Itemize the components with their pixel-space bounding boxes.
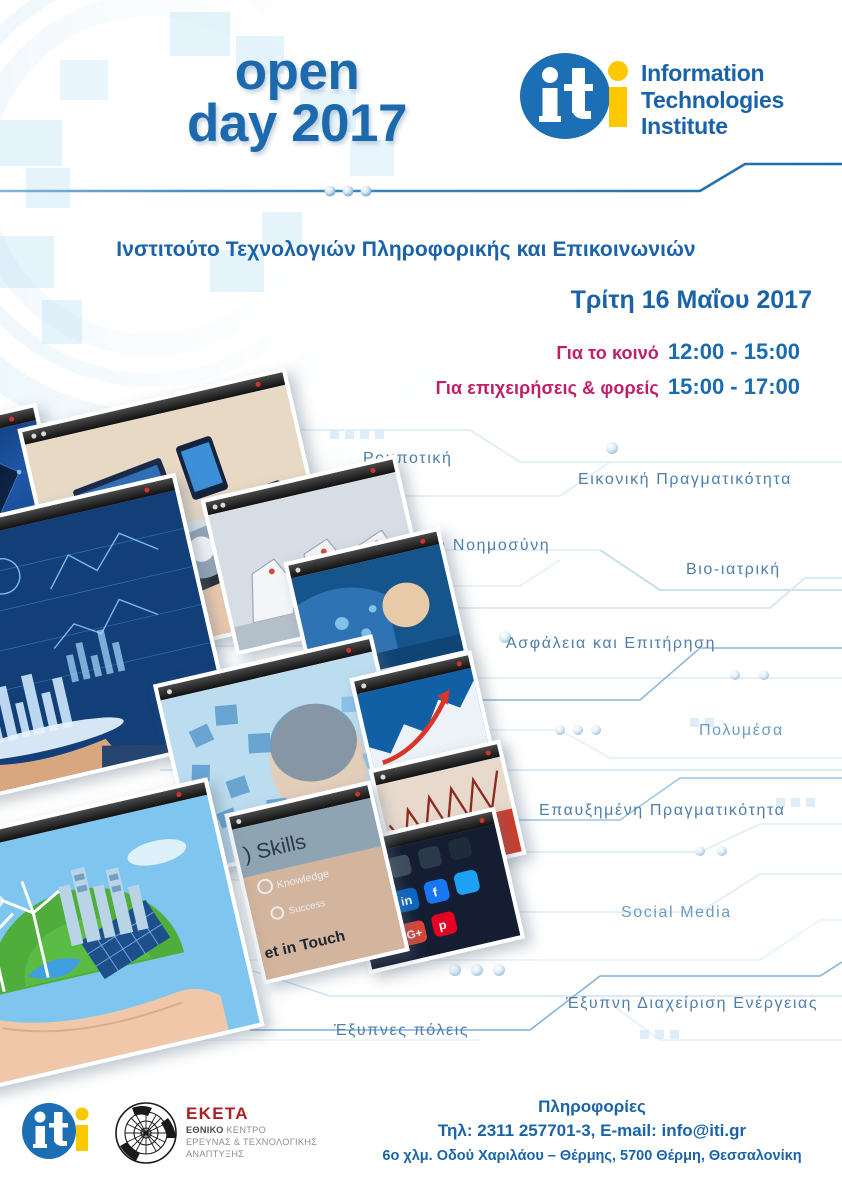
iti-wordmark: Information Technologies Institute — [641, 60, 784, 140]
image-collage: in f G+ p ) Skills Knowledge — [0, 395, 550, 1075]
title-line-1: open — [235, 42, 360, 101]
topic-label-biomedical: Βιο-ιατρική — [686, 561, 781, 579]
iti-logo-footer — [22, 1102, 94, 1160]
topic-label-virtual-reality: Εικονική Πραγματικότητα — [578, 471, 792, 489]
session-label-public: Για το κοινό — [556, 343, 658, 363]
iti-word-line-1: Information — [641, 60, 784, 87]
iti-word-line-3: Institute — [641, 113, 784, 140]
footer-contact-line: Τηλ: 2311 257701-3, E-mail: info@iti.gr — [342, 1119, 842, 1144]
topic-label-smart-energy: Έξυπνη Διαχείριση Ενέργειας — [566, 995, 818, 1013]
topic-label-multimedia: Πολυμέσα — [699, 722, 784, 740]
session-time-business: 15:00 - 17:00 — [668, 374, 800, 399]
session-row-public: Για το κοινό12:00 - 15:00 — [0, 338, 800, 366]
page-title: open day 2017 — [132, 46, 462, 150]
iti-logo — [517, 52, 642, 140]
institute-name: Ινστιτούτο Τεχνολογιών Πληροφορικής και … — [0, 238, 812, 262]
certh-subtitle-line-2: ΕΡΕΥΝΑΣ & ΤΕΧΝΟΛΟΓΙΚΗΣ — [186, 1136, 317, 1148]
iti-word-line-2: Technologies — [641, 87, 784, 114]
title-line-2: day 2017 — [132, 98, 462, 150]
certh-subtitle-line-1: ΕΘΝΙΚΟ ΚΕΝΤΡΟ — [186, 1124, 317, 1136]
topic-label-social-media: Social Media — [621, 904, 732, 922]
topic-label-augmented-reality: Επαυξημένη Πραγματικότητα — [539, 802, 786, 820]
footer-address-line: 6ο χλμ. Οδού Χαριλάου – Θέρμης, 5700 Θέρ… — [342, 1144, 842, 1169]
certh-subtitle-bold: ΕΘΝΙΚΟ — [186, 1125, 224, 1135]
header-divider — [0, 160, 842, 220]
session-time-public: 12:00 - 15:00 — [668, 339, 800, 364]
certh-subtitle-rest: ΚΕΝΤΡΟ — [224, 1125, 266, 1135]
certh-acronym: ΕΚΕΤΑ — [186, 1104, 317, 1124]
footer-info-title: Πληροφορίες — [342, 1096, 842, 1119]
certh-wordmark: ΕΚΕΤΑ ΕΘΝΙΚΟ ΚΕΝΤΡΟ ΕΡΕΥΝΑΣ & ΤΕΧΝΟΛΟΓΙΚ… — [186, 1104, 317, 1160]
certh-subtitle-line-3: ΑΝΑΠΤΥΞΗΣ — [186, 1148, 317, 1160]
poster-canvas: open day 2017 Information Technologies I… — [0, 0, 842, 1191]
footer-contact-block: Πληροφορίες Τηλ: 2311 257701-3, E-mail: … — [342, 1096, 842, 1168]
certh-seal-icon — [110, 1098, 182, 1168]
event-date: Τρίτη 16 Μαΐου 2017 — [0, 286, 812, 315]
